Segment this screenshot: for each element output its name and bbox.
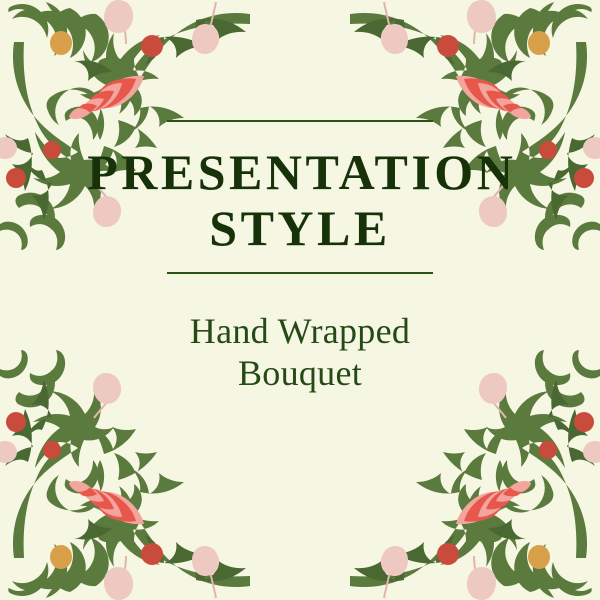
pink-bud [0, 441, 17, 463]
pink-bud [381, 546, 408, 576]
red-berry [539, 441, 557, 459]
title-line-2: STYLE [209, 200, 390, 256]
gold-berry [50, 545, 72, 569]
pink-bud [583, 441, 600, 463]
coral-flower [456, 481, 531, 524]
subtitle-line-2: Bouquet [238, 353, 362, 393]
red-berry [6, 412, 26, 432]
pink-bud [467, 567, 496, 600]
pink-bud [381, 24, 408, 54]
title-line-1: PRESENTATION [87, 144, 516, 200]
pink-bud [104, 567, 133, 600]
pink-bud [192, 546, 219, 576]
pink-bud [104, 0, 133, 33]
card-content: PRESENTATIONSTYLE Hand WrappedBouquet [0, 120, 600, 395]
gold-berry [528, 545, 550, 569]
red-berry [141, 35, 163, 57]
red-berry [574, 412, 594, 432]
gold-berry [528, 31, 550, 55]
coral-flower [69, 481, 144, 524]
subtitle-line-1: Hand Wrapped [190, 311, 410, 351]
pink-bud [467, 0, 496, 33]
page-title: PRESENTATIONSTYLE [0, 144, 600, 256]
page-subtitle: Hand WrappedBouquet [0, 274, 600, 395]
red-berry [43, 441, 61, 459]
red-berry [141, 543, 163, 565]
red-berry [437, 543, 459, 565]
coral-flower [69, 76, 144, 119]
divider-top [167, 120, 433, 122]
presentation-style-card: PRESENTATIONSTYLE Hand WrappedBouquet [0, 0, 600, 600]
gold-berry [50, 31, 72, 55]
red-berry [437, 35, 459, 57]
pink-bud [192, 24, 219, 54]
coral-flower [456, 76, 531, 119]
